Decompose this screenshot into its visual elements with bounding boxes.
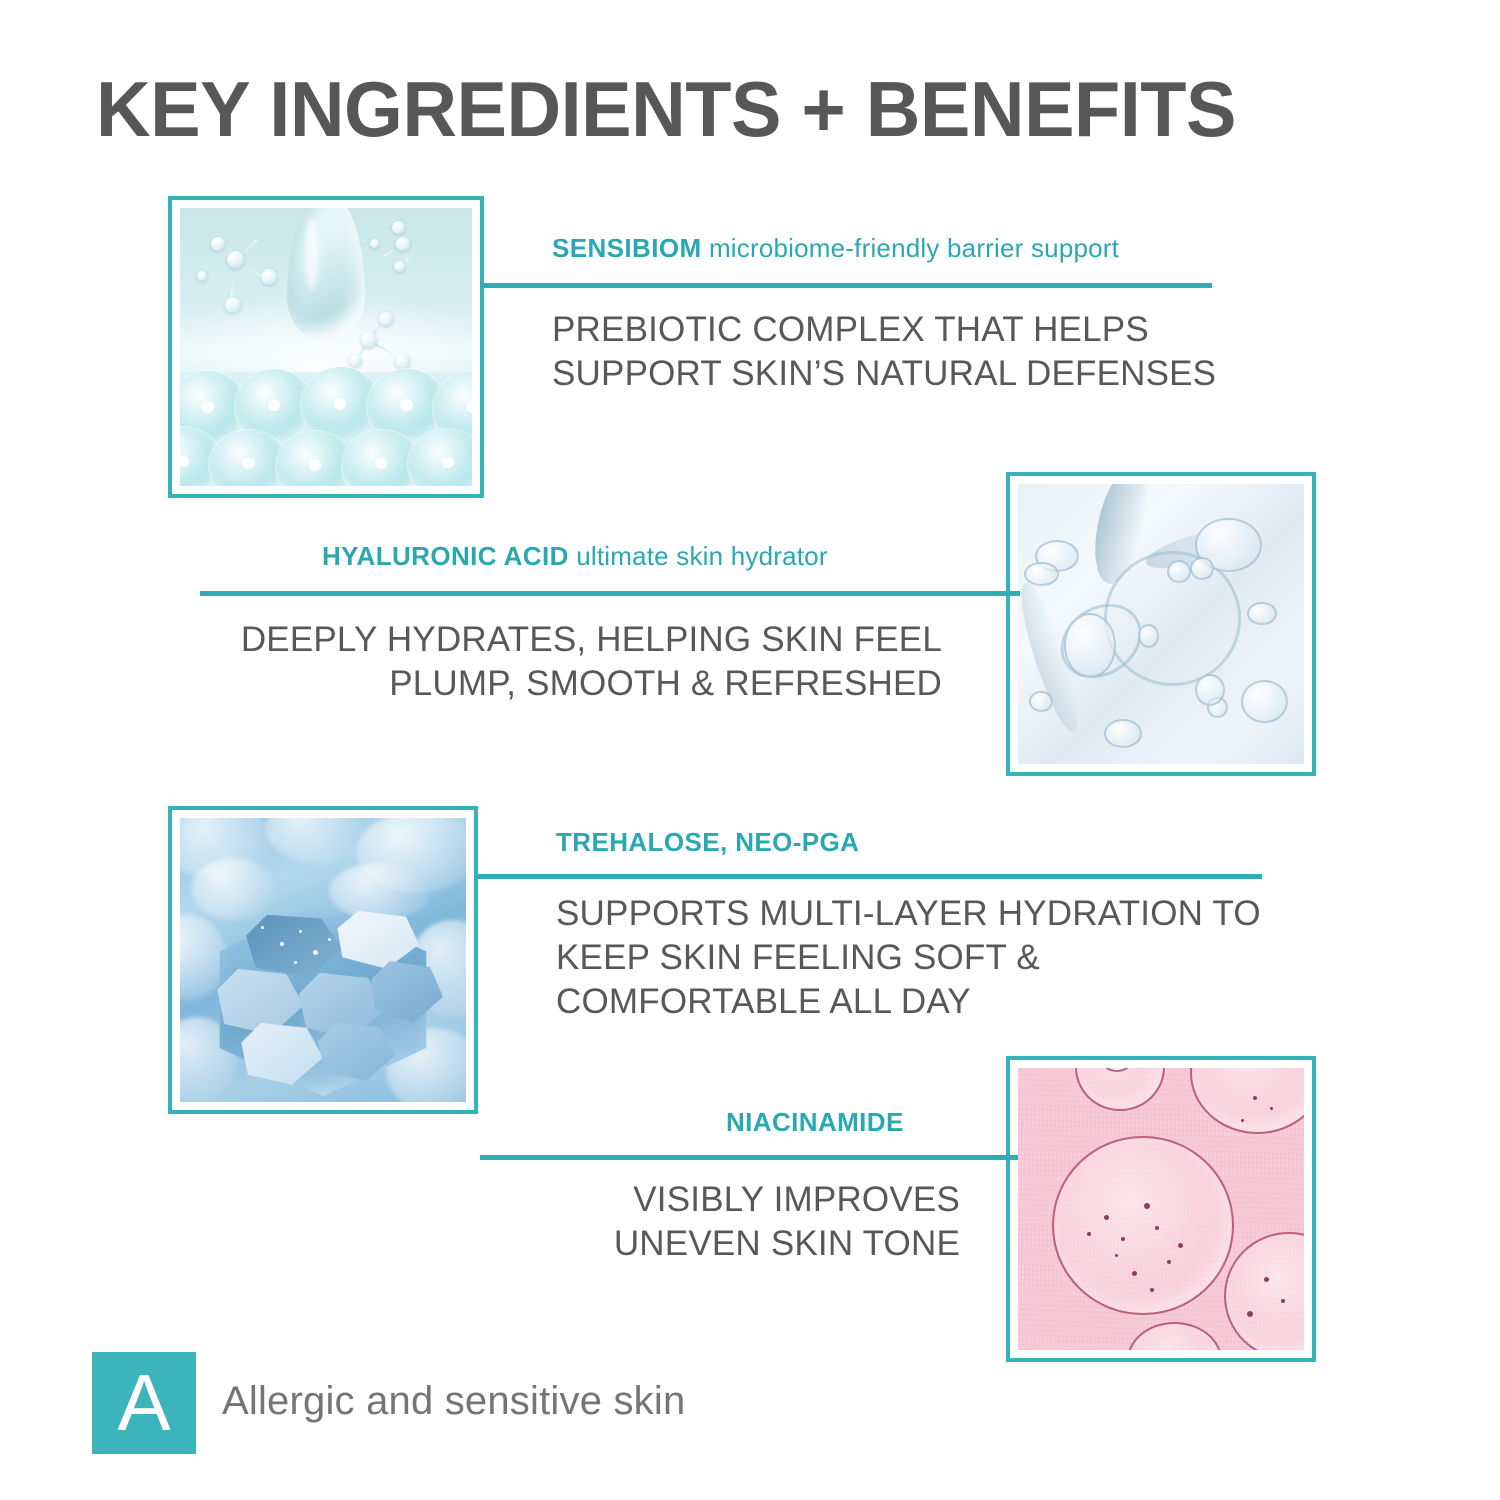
ingredient-tagline: microbiome-friendly barrier support — [702, 233, 1120, 263]
allergic-badge-icon: A — [92, 1352, 196, 1454]
ingredient-image-niacinamide — [1006, 1056, 1316, 1362]
water-droplet-icon — [287, 208, 365, 341]
ingredient-image-sensibiom — [168, 196, 484, 498]
ingredient-heading-hyaluronic-acid: HYALURONIC ACID ultimate skin hydrator — [322, 540, 828, 572]
ingredient-benefit-trehalose: SUPPORTS MULTI-LAYER HYDRATION TO KEEP S… — [556, 892, 1296, 1024]
ingredient-rule-trehalose — [474, 874, 1262, 879]
gel-texture-photo — [1018, 484, 1304, 764]
faceted-sphere-photo — [180, 818, 466, 1102]
ingredient-image-trehalose — [168, 806, 478, 1114]
droplet-molecule-photo — [180, 208, 472, 486]
infographic-page: KEY INGREDIENTS + BENEFITS — [0, 0, 1500, 1500]
ingredient-name: SENSIBIOM — [552, 233, 702, 263]
skin-cell-spheres — [180, 364, 472, 486]
ingredient-image-hyaluronic-acid — [1006, 472, 1316, 776]
ingredient-name: TREHALOSE, NEO-PGA — [556, 827, 859, 857]
pink-bubbles-photo — [1018, 1068, 1304, 1350]
ingredient-heading-trehalose: TREHALOSE, NEO-PGA — [556, 826, 859, 858]
ingredient-heading-niacinamide: NIACINAMIDE — [726, 1106, 904, 1138]
ingredient-rule-niacinamide — [480, 1155, 1018, 1160]
ingredient-benefit-hyaluronic-acid: DEEPLY HYDRATES, HELPING SKIN FEEL PLUMP… — [240, 618, 942, 706]
ingredient-name: NIACINAMIDE — [726, 1107, 904, 1137]
ingredient-benefit-niacinamide: VISIBLY IMPROVES UNEVEN SKIN TONE — [500, 1178, 960, 1266]
page-title: KEY INGREDIENTS + BENEFITS — [96, 66, 1376, 152]
ingredient-tagline: ultimate skin hydrator — [569, 541, 828, 571]
ingredient-heading-sensibiom: SENSIBIOM microbiome-friendly barrier su… — [552, 232, 1119, 264]
polygon-sphere-icon — [203, 903, 443, 1096]
ingredient-rule-sensibiom — [480, 283, 1212, 288]
ingredient-rule-hyaluronic-acid — [200, 591, 1020, 596]
footer-label: Allergic and sensitive skin — [222, 1368, 685, 1434]
ingredient-name: HYALURONIC ACID — [322, 541, 569, 571]
ingredient-benefit-sensibiom: PREBIOTIC COMPLEX THAT HELPS SUPPORT SKI… — [552, 308, 1312, 396]
